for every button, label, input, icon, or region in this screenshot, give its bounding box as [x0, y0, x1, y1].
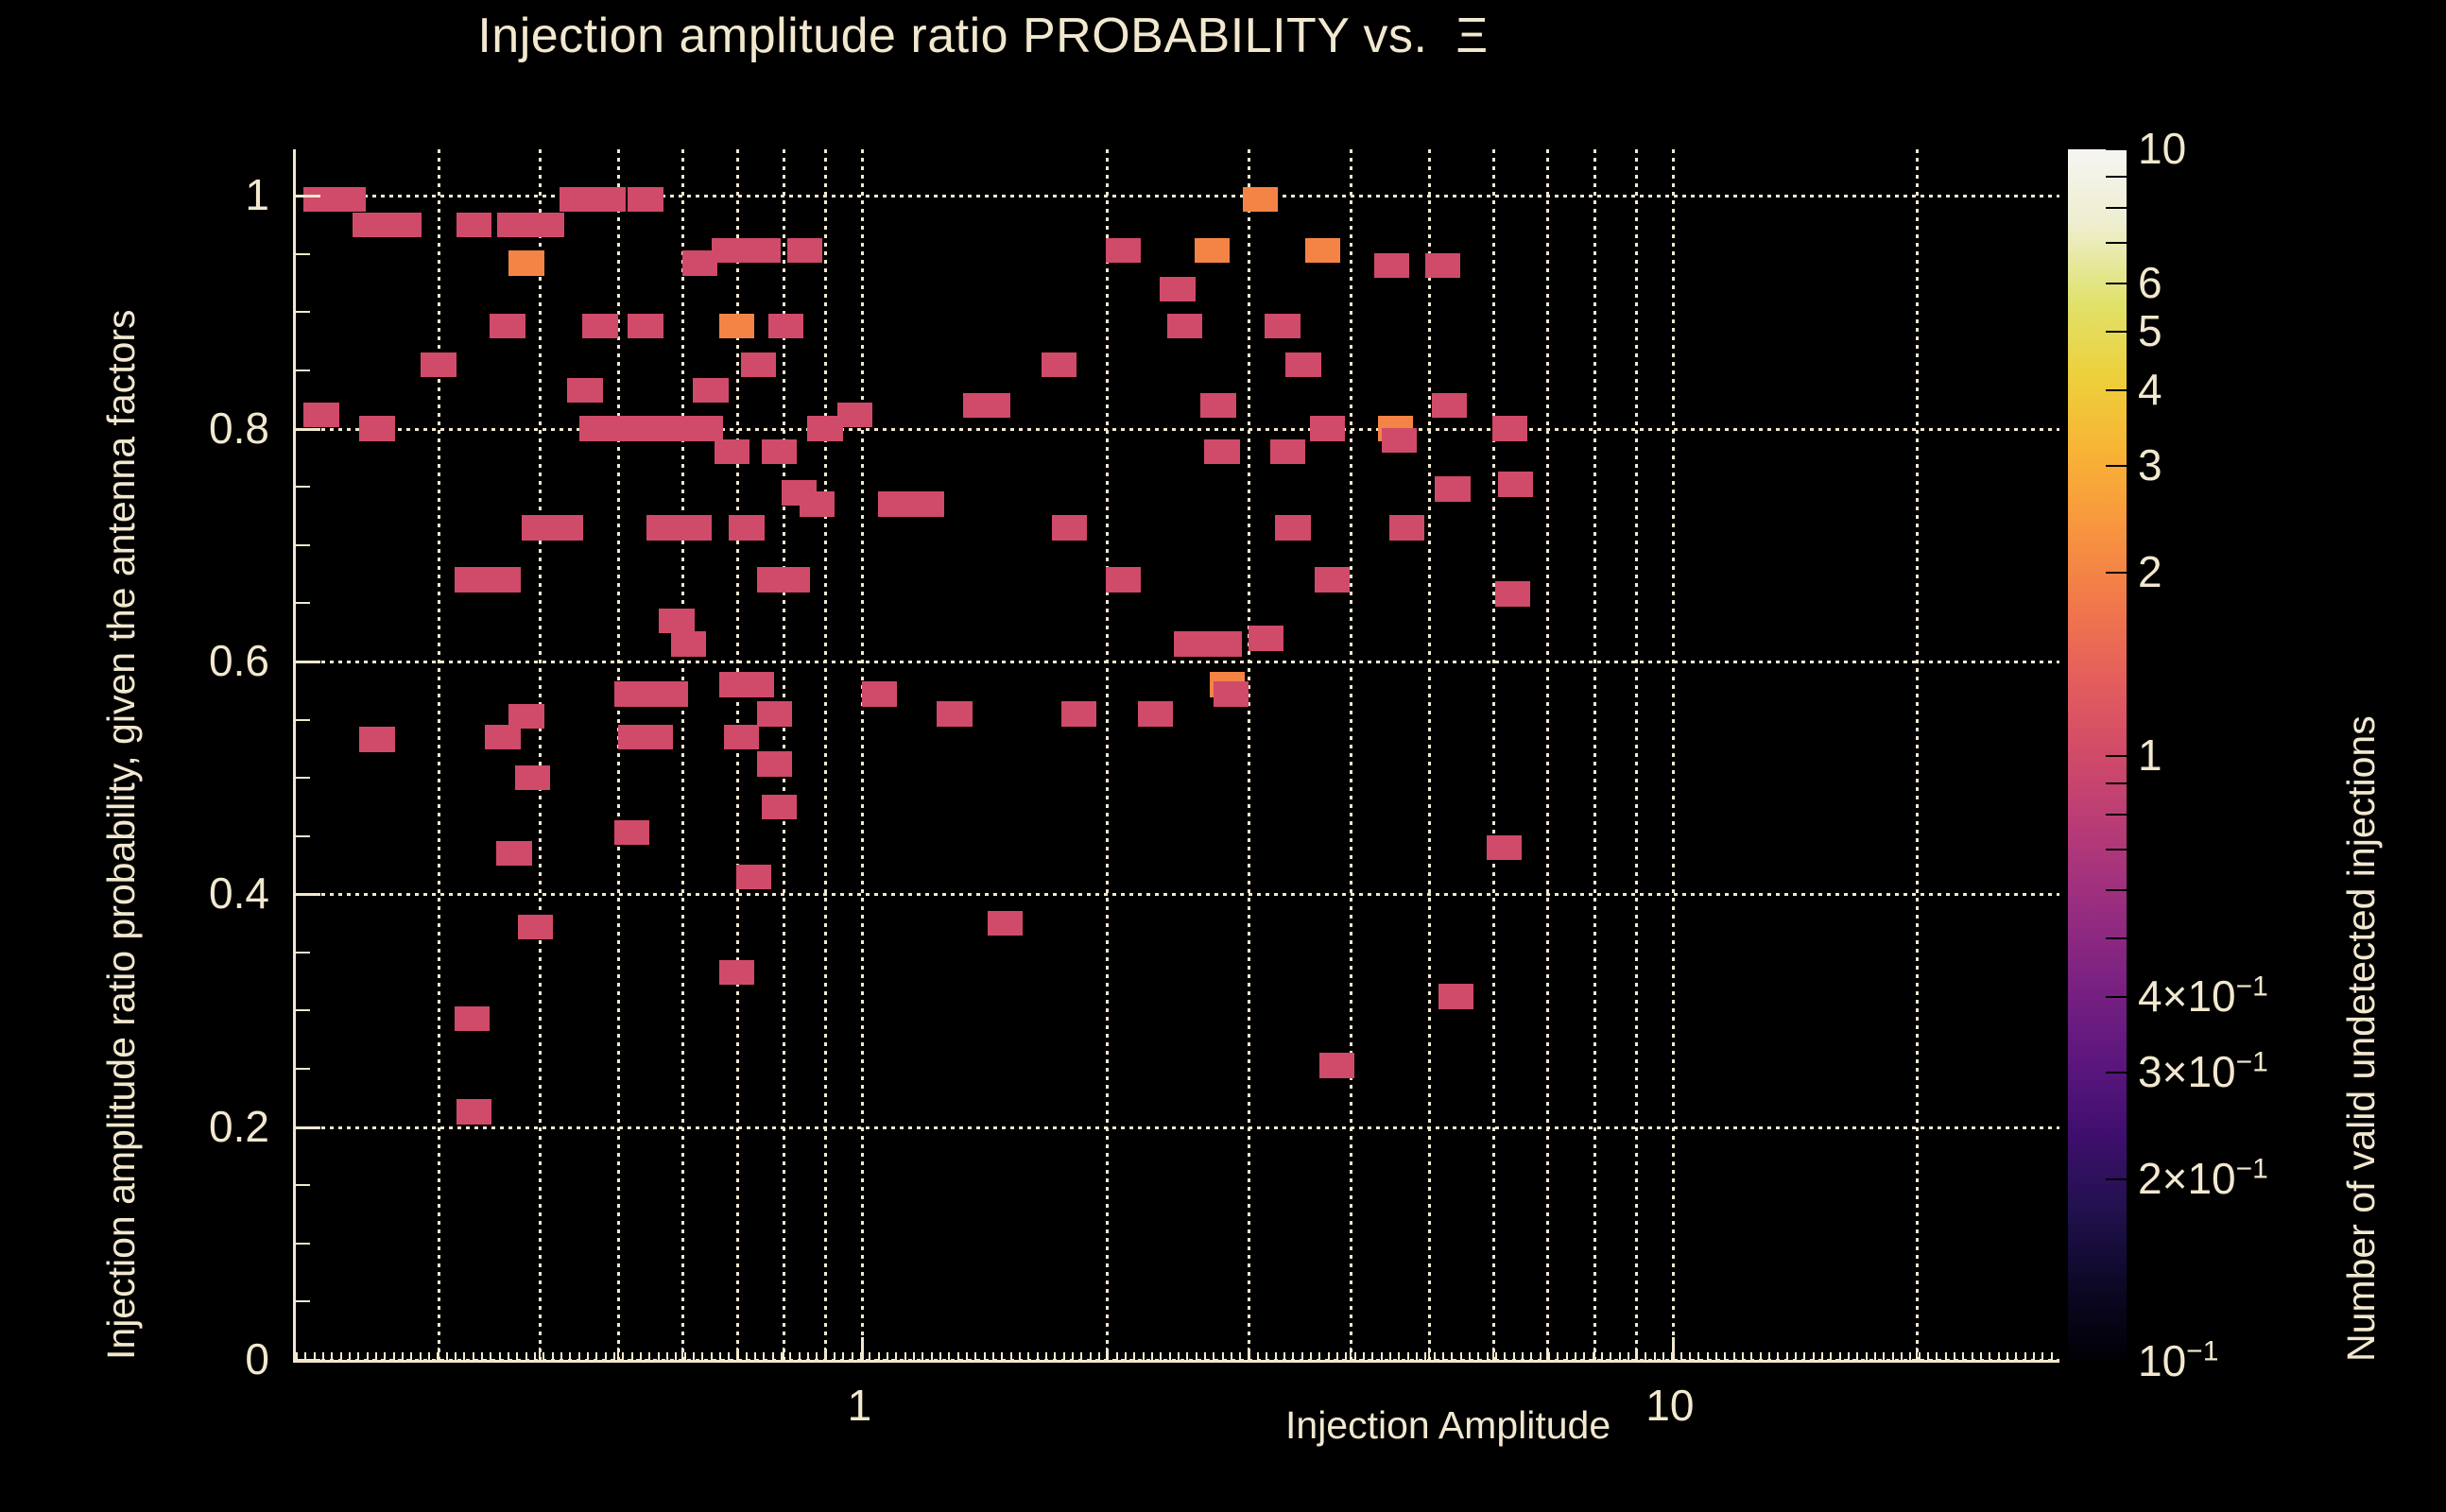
- colorbar-tick: [2106, 242, 2127, 244]
- x-tick-minor: [539, 1348, 541, 1360]
- gridline-vertical: [824, 149, 827, 1360]
- x-tick-fine: [878, 1352, 880, 1360]
- heatmap-cell: [1160, 277, 1195, 301]
- x-tick-fine: [1513, 1352, 1515, 1360]
- heatmap-cell: [1204, 439, 1239, 464]
- x-tick-fine: [1037, 1352, 1039, 1360]
- x-tick-fine: [939, 1352, 941, 1360]
- x-tick-fine: [1962, 1352, 1964, 1360]
- heatmap-cell: [628, 314, 663, 338]
- heatmap-cell: [508, 704, 543, 729]
- x-tick-fine: [437, 1352, 439, 1360]
- heatmap-cell: [567, 378, 602, 403]
- x-tick-fine: [1645, 1352, 1646, 1360]
- x-tick-fine: [587, 1352, 589, 1360]
- colorbar-tick-label: 3: [2138, 443, 2162, 487]
- x-tick-fine: [1451, 1352, 1453, 1360]
- x-tick-fine: [1813, 1352, 1815, 1360]
- page-title: Injection amplitude ratio PROBABILITY vs…: [0, 6, 1966, 66]
- heatmap-cell: [746, 238, 781, 263]
- x-tick-fine: [1680, 1352, 1682, 1360]
- x-tick-fine: [763, 1352, 765, 1360]
- x-tick-fine: [613, 1352, 615, 1360]
- x-tick-fine: [711, 1352, 713, 1360]
- x-tick-fine: [904, 1352, 906, 1360]
- heatmap-cell: [1432, 393, 1467, 418]
- y-tick-minor: [296, 602, 310, 604]
- x-tick-fine: [1839, 1352, 1841, 1360]
- x-tick-fine: [869, 1352, 870, 1360]
- x-tick-fine: [1133, 1352, 1135, 1360]
- heatmap-cell: [455, 1006, 490, 1031]
- heatmap-cell: [508, 250, 543, 275]
- x-tick-fine: [719, 1352, 721, 1360]
- heatmap-cell: [1249, 626, 1283, 650]
- gridline-horizontal: [296, 661, 2059, 663]
- x-tick-fine: [2024, 1352, 2026, 1360]
- gridline-vertical: [861, 149, 864, 1360]
- heatmap-cell: [1270, 439, 1305, 464]
- y-tick-minor: [296, 952, 310, 954]
- x-tick-fine: [922, 1352, 923, 1360]
- x-tick-fine: [957, 1352, 959, 1360]
- x-tick-fine: [393, 1352, 395, 1360]
- x-tick-fine: [966, 1352, 968, 1360]
- x-tick-fine: [1504, 1352, 1506, 1360]
- x-tick-fine: [402, 1352, 404, 1360]
- x-tick-fine: [1363, 1352, 1365, 1360]
- x-tick-fine: [322, 1352, 324, 1360]
- x-tick-fine: [1292, 1352, 1294, 1360]
- x-tick-fine: [675, 1352, 677, 1360]
- x-tick-minor: [1916, 1348, 1918, 1360]
- x-tick-fine: [1416, 1352, 1418, 1360]
- heatmap-cell: [1167, 314, 1202, 338]
- x-tick-fine: [2007, 1352, 2008, 1360]
- x-tick-fine: [1266, 1352, 1267, 1360]
- x-tick-label: 10: [1576, 1383, 1765, 1427]
- x-tick-fine: [852, 1352, 853, 1360]
- chart-canvas: Injection amplitude ratio PROBABILITY vs…: [0, 0, 2446, 1512]
- heatmap-cell: [719, 960, 754, 985]
- heatmap-cell: [1195, 238, 1230, 263]
- x-tick-fine: [340, 1352, 342, 1360]
- x-tick-fine: [622, 1352, 624, 1360]
- x-tick-fine: [1548, 1352, 1550, 1360]
- colorbar-tick: [2106, 996, 2127, 998]
- x-tick-fine: [1619, 1352, 1621, 1360]
- x-tick-fine: [2041, 1352, 2043, 1360]
- colorbar-tick: [2106, 176, 2127, 178]
- y-tick-minor: [296, 1009, 310, 1011]
- heatmap-cell: [547, 515, 582, 540]
- x-tick-fine: [420, 1352, 422, 1360]
- heatmap-cell: [387, 213, 422, 237]
- x-tick-fine: [1318, 1352, 1320, 1360]
- heatmap-cell: [1138, 701, 1173, 726]
- x-tick-fine: [1724, 1352, 1726, 1360]
- x-tick-fine: [1830, 1352, 1832, 1360]
- x-tick-fine: [1231, 1352, 1232, 1360]
- heatmap-cell: [719, 314, 754, 338]
- heatmap-cell: [1495, 581, 1530, 606]
- x-tick-fine: [1495, 1352, 1497, 1360]
- colorbar-tick: [2106, 1072, 2127, 1074]
- x-tick-fine: [1460, 1352, 1462, 1360]
- x-tick-fine: [1750, 1352, 1752, 1360]
- x-tick-fine: [1715, 1352, 1717, 1360]
- x-tick-fine: [1628, 1352, 1629, 1360]
- x-tick-fine: [1301, 1352, 1303, 1360]
- x-tick-fine: [1760, 1352, 1762, 1360]
- x-tick-fine: [1125, 1352, 1127, 1360]
- x-tick-fine: [1249, 1352, 1250, 1360]
- y-tick-minor: [296, 253, 310, 255]
- y-tick-label: 0.8: [24, 406, 269, 450]
- heatmap-cell: [975, 393, 1010, 418]
- plot-frame: [293, 149, 2059, 1363]
- heatmap-cell: [712, 238, 747, 263]
- x-tick-fine: [1936, 1352, 1938, 1360]
- y-tick-minor: [296, 1184, 310, 1186]
- x-tick-fine: [1275, 1352, 1277, 1360]
- x-tick-fine: [1027, 1352, 1029, 1360]
- y-tick-label: 1: [24, 173, 269, 216]
- gridline-vertical: [438, 149, 440, 1360]
- heatmap-cell: [331, 187, 366, 212]
- x-tick-fine: [2033, 1352, 2035, 1360]
- x-tick-label: 1: [765, 1383, 954, 1427]
- x-tick-fine: [1487, 1352, 1489, 1360]
- gridline-vertical: [681, 149, 684, 1360]
- heatmap-cell: [637, 725, 672, 749]
- x-tick-fine: [1345, 1352, 1347, 1360]
- x-tick-fine: [560, 1352, 562, 1360]
- x-tick-fine: [781, 1352, 783, 1360]
- x-tick-fine: [1283, 1352, 1285, 1360]
- x-tick-fine: [1072, 1352, 1074, 1360]
- y-tick-label: 0.6: [24, 639, 269, 682]
- colorbar-tick: [2106, 937, 2127, 939]
- x-tick-fine: [799, 1352, 801, 1360]
- x-tick-fine: [648, 1352, 650, 1360]
- heatmap-cell: [862, 681, 897, 706]
- colorbar-tick: [2106, 782, 2127, 784]
- heatmap-cell: [1285, 352, 1320, 377]
- y-tick-minor: [296, 544, 310, 546]
- heatmap-cell: [1243, 187, 1278, 212]
- x-tick-fine: [1707, 1352, 1709, 1360]
- x-tick-fine: [1927, 1352, 1929, 1360]
- gridline-vertical: [1672, 149, 1675, 1360]
- y-tick-minor: [296, 719, 310, 721]
- x-tick-fine: [516, 1352, 518, 1360]
- x-tick-fine: [1257, 1352, 1259, 1360]
- x-tick-minor: [1428, 1348, 1430, 1360]
- x-tick-fine: [384, 1352, 386, 1360]
- heatmap-cell: [937, 701, 972, 726]
- heatmap-cell: [1374, 253, 1409, 278]
- x-tick-fine: [1901, 1352, 1903, 1360]
- y-tick-minor: [296, 369, 310, 371]
- x-tick-fine: [1654, 1352, 1656, 1360]
- x-tick-fine: [595, 1352, 597, 1360]
- heatmap-cell: [359, 727, 394, 751]
- colorbar-tick: [2106, 465, 2127, 467]
- x-tick-fine: [816, 1352, 818, 1360]
- heatmap-cell: [1438, 984, 1473, 1008]
- x-tick-fine: [1371, 1352, 1373, 1360]
- x-tick-fine: [1442, 1352, 1444, 1360]
- x-tick-fine: [1116, 1352, 1118, 1360]
- y-tick-major: [296, 661, 320, 663]
- x-tick-fine: [1222, 1352, 1224, 1360]
- y-tick-major: [296, 428, 320, 431]
- x-tick-fine: [1874, 1352, 1876, 1360]
- heatmap-cell: [659, 609, 694, 633]
- heatmap-cell: [653, 681, 688, 706]
- x-tick-fine: [1583, 1352, 1585, 1360]
- x-tick-fine: [367, 1352, 369, 1360]
- heatmap-cell: [1389, 515, 1424, 540]
- x-tick-fine: [1980, 1352, 1982, 1360]
- heatmap-cell: [757, 751, 792, 776]
- colorbar-tick-label: 2×10−1: [2138, 1157, 2268, 1200]
- x-tick-fine: [1601, 1352, 1603, 1360]
- x-tick-fine: [1972, 1352, 1973, 1360]
- x-tick-fine: [428, 1352, 430, 1360]
- x-tick-fine: [410, 1352, 412, 1360]
- x-tick-fine: [1803, 1352, 1805, 1360]
- x-tick-fine: [1107, 1352, 1109, 1360]
- x-tick-fine: [1557, 1352, 1559, 1360]
- x-tick-fine: [349, 1352, 351, 1360]
- heatmap-cell: [1214, 681, 1249, 706]
- y-tick-minor: [296, 835, 310, 837]
- heatmap-cell: [909, 491, 944, 516]
- x-tick-fine: [887, 1352, 888, 1360]
- y-tick-minor: [296, 893, 310, 895]
- x-tick-fine: [746, 1352, 748, 1360]
- x-tick-minor: [783, 1348, 784, 1360]
- heatmap-cell: [1052, 515, 1087, 540]
- x-tick-fine: [1169, 1352, 1171, 1360]
- x-tick-fine: [1954, 1352, 1955, 1360]
- heatmap-cell: [715, 439, 749, 464]
- x-tick-fine: [1213, 1352, 1214, 1360]
- x-tick-fine: [1989, 1352, 1990, 1360]
- x-tick-fine: [1697, 1352, 1699, 1360]
- x-tick-fine: [984, 1352, 986, 1360]
- gridline-vertical: [1492, 149, 1495, 1360]
- x-tick-fine: [1866, 1352, 1868, 1360]
- x-tick-fine: [913, 1352, 915, 1360]
- x-tick-fine: [1063, 1352, 1065, 1360]
- x-tick-fine: [1777, 1352, 1779, 1360]
- x-tick-fine: [684, 1352, 686, 1360]
- x-tick-fine: [948, 1352, 950, 1360]
- x-tick-fine: [1098, 1352, 1100, 1360]
- heatmap-cell: [303, 403, 338, 427]
- x-tick-fine: [314, 1352, 316, 1360]
- colorbar-tick: [2106, 755, 2127, 757]
- y-tick-minor: [296, 777, 310, 779]
- x-tick-fine: [895, 1352, 897, 1360]
- gridline-vertical: [1916, 149, 1919, 1360]
- gridline-vertical: [1428, 149, 1431, 1360]
- x-tick-fine: [1795, 1352, 1797, 1360]
- colorbar-tick-label: 5: [2138, 309, 2162, 352]
- x-tick-fine: [1593, 1352, 1594, 1360]
- x-tick-fine: [1575, 1352, 1576, 1360]
- x-tick-minor: [617, 1348, 619, 1360]
- x-tick-fine: [772, 1352, 774, 1360]
- colorbar-tick: [2106, 572, 2127, 574]
- heatmap-cell: [741, 352, 776, 377]
- colorbar-tick-label: 3×10−1: [2138, 1050, 2268, 1093]
- x-tick-minor: [1350, 1348, 1352, 1360]
- colorbar-tick: [2106, 1178, 2127, 1180]
- heatmap-cell: [724, 725, 759, 749]
- heatmap-cell: [1319, 1053, 1354, 1077]
- gridline-vertical: [1350, 149, 1352, 1360]
- x-tick-fine: [1019, 1352, 1021, 1360]
- heatmap-cell: [456, 1099, 491, 1124]
- colorbar-tick-label: 10: [2138, 127, 2186, 170]
- x-tick-fine: [1204, 1352, 1206, 1360]
- heatmap-cell: [1106, 567, 1141, 592]
- x-tick-fine: [578, 1352, 580, 1360]
- heatmap-cell: [762, 795, 797, 819]
- heatmap-cell: [590, 187, 625, 212]
- x-tick-fine: [1239, 1352, 1241, 1360]
- plot-area: [296, 149, 2059, 1360]
- x-tick-fine: [463, 1352, 465, 1360]
- x-tick-fine: [569, 1352, 571, 1360]
- x-tick-fine: [1540, 1352, 1542, 1360]
- x-tick-fine: [1143, 1352, 1145, 1360]
- gridline-vertical: [1546, 149, 1549, 1360]
- x-tick-minor: [1492, 1348, 1494, 1360]
- heatmap-cell: [614, 820, 649, 845]
- x-tick-fine: [1671, 1352, 1673, 1360]
- heatmap-cell: [1498, 472, 1533, 496]
- heatmap-cell: [485, 567, 520, 592]
- x-tick-fine: [825, 1352, 827, 1360]
- heatmap-cell: [497, 213, 532, 237]
- gridline-vertical: [1248, 149, 1250, 1360]
- x-tick-fine: [1151, 1352, 1153, 1360]
- y-tick-minor: [296, 486, 310, 488]
- x-tick-fine: [1090, 1352, 1092, 1360]
- heatmap-cell: [736, 865, 771, 889]
- y-tick-label: 0.4: [24, 871, 269, 915]
- x-tick-fine: [534, 1352, 536, 1360]
- heatmap-cell: [693, 378, 728, 403]
- x-tick-fine: [296, 1352, 298, 1360]
- x-tick-fine: [331, 1352, 333, 1360]
- y-tick-minor: [296, 1243, 310, 1245]
- x-tick-fine: [1689, 1352, 1691, 1360]
- x-tick-fine: [1469, 1352, 1471, 1360]
- gridline-vertical: [1635, 149, 1638, 1360]
- heatmap-cell: [1275, 515, 1310, 540]
- x-tick-fine: [605, 1352, 607, 1360]
- heatmap-cell: [359, 416, 394, 440]
- x-tick-fine: [631, 1352, 633, 1360]
- heatmap-cell: [988, 911, 1023, 936]
- y-tick-major: [296, 1359, 320, 1362]
- heatmap-cell: [739, 672, 774, 696]
- x-tick-fine: [860, 1352, 862, 1360]
- x-tick-fine: [1178, 1352, 1180, 1360]
- heatmap-cell: [1207, 631, 1242, 656]
- heatmap-cell: [1061, 701, 1096, 726]
- x-tick-fine: [1786, 1352, 1788, 1360]
- heatmap-cell: [1492, 416, 1527, 440]
- heatmap-cell: [729, 515, 764, 540]
- colorbar-tick: [2106, 1361, 2127, 1363]
- x-tick-fine: [508, 1352, 509, 1360]
- x-tick-fine: [455, 1352, 456, 1360]
- heatmap-cell: [787, 238, 822, 263]
- x-tick-fine: [1742, 1352, 1744, 1360]
- colorbar-tick-label: 4: [2138, 368, 2162, 411]
- colorbar-tick: [2106, 331, 2127, 333]
- x-tick-fine: [789, 1352, 791, 1360]
- x-tick-fine: [1381, 1352, 1383, 1360]
- heatmap-cell: [768, 314, 803, 338]
- x-tick-fine: [1160, 1352, 1162, 1360]
- heatmap-cell: [490, 314, 525, 338]
- heatmap-cell: [671, 631, 706, 656]
- heatmap-cell: [677, 515, 712, 540]
- x-tick-fine: [931, 1352, 933, 1360]
- x-tick-fine: [728, 1352, 730, 1360]
- x-tick-fine: [2015, 1352, 2017, 1360]
- heatmap-cell: [1435, 476, 1470, 501]
- y-tick-major: [296, 195, 320, 198]
- heatmap-cell: [1042, 352, 1077, 377]
- x-tick-fine: [666, 1352, 668, 1360]
- x-tick-fine: [552, 1352, 554, 1360]
- heatmap-cell: [1315, 567, 1350, 592]
- y-tick-label: 0: [24, 1337, 269, 1381]
- heatmap-cell: [837, 403, 872, 427]
- x-tick-fine: [304, 1352, 306, 1360]
- x-tick-fine: [992, 1352, 994, 1360]
- x-tick-fine: [1196, 1352, 1197, 1360]
- x-tick-fine: [1566, 1352, 1568, 1360]
- colorbar-tick: [2106, 207, 2127, 209]
- colorbar-tick-label: 1: [2138, 733, 2162, 777]
- heatmap-cell: [1310, 416, 1345, 440]
- x-tick-fine: [842, 1352, 844, 1360]
- heatmap-cell: [496, 841, 531, 866]
- x-tick-fine: [446, 1352, 448, 1360]
- heatmap-cell: [353, 213, 388, 237]
- x-tick-fine: [543, 1352, 544, 1360]
- gridline-horizontal: [296, 428, 2059, 431]
- x-tick-fine: [1054, 1352, 1056, 1360]
- x-tick-fine: [974, 1352, 976, 1360]
- x-tick-fine: [481, 1352, 483, 1360]
- x-tick-fine: [807, 1352, 809, 1360]
- x-tick-fine: [1407, 1352, 1409, 1360]
- heatmap-cell: [757, 701, 792, 726]
- heatmap-cell: [1174, 631, 1209, 656]
- x-tick-fine: [834, 1352, 835, 1360]
